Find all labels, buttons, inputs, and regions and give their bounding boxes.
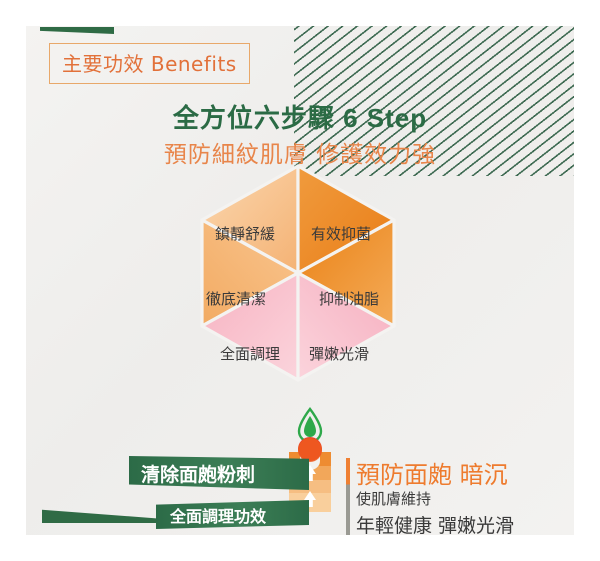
page-title-latin: 6 Step xyxy=(335,103,427,133)
hex-label-bottom-left: 全面調理 xyxy=(220,343,280,364)
hex-label-top-left: 鎮靜舒緩 xyxy=(215,223,275,244)
page-title-cn: 全方位六步驟 xyxy=(173,104,335,134)
result-headline: 預防面皰 暗沉 xyxy=(356,455,508,490)
banner-clear-acne-label: 清除面皰粉刺 xyxy=(141,460,255,487)
banner-full-care: 全面調理功效 xyxy=(156,500,309,529)
benefits-badge: 主要功效 Benefits xyxy=(49,43,250,84)
banner-full-care-label: 全面調理功效 xyxy=(170,503,266,527)
content-card: 主要功效 Benefits 全方位六步驟 6 Step 預防細紋肌膚 修護效力強 xyxy=(26,18,574,536)
hex-label-mid-left: 徹底清潔 xyxy=(206,288,266,309)
banner-clear-acne: 清除面皰粉刺 xyxy=(129,456,309,490)
top-left-wedge-ornament xyxy=(40,27,114,34)
hex-label-mid-right: 抑制油脂 xyxy=(319,288,379,309)
hex-label-bottom-right: 彈嫩光滑 xyxy=(309,343,369,364)
hexagon-diagram: 鎮靜舒緩 有效抑菌 徹底清潔 抑制油脂 全面調理 彈嫩光滑 xyxy=(193,162,403,384)
result-line-1: 使肌膚維持 xyxy=(356,488,431,509)
slide-root: 主要功效 Benefits 全方位六步驟 6 Step 預防細紋肌膚 修護效力強 xyxy=(0,0,600,561)
page-title: 全方位六步驟 6 Step xyxy=(26,98,574,135)
benefits-badge-label: 主要功效 Benefits xyxy=(62,52,237,76)
bottom-left-wedge-ornament xyxy=(42,508,174,523)
hex-label-top-right: 有效抑菌 xyxy=(311,223,371,244)
result-line-2: 年輕健康 彈嫩光滑 xyxy=(356,511,514,536)
result-divider xyxy=(346,458,350,536)
